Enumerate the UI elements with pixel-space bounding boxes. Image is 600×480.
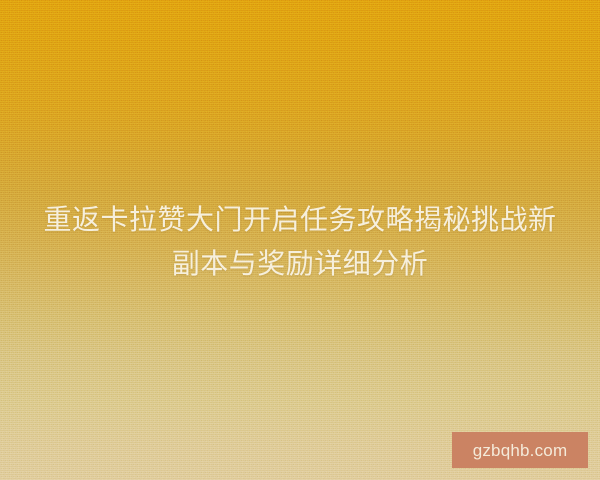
watermark-badge: gzbqhb.com (452, 432, 588, 468)
title-line-2: 副本与奖励详细分析 (14, 242, 586, 286)
watermark-text: gzbqhb.com (473, 442, 568, 459)
poster-canvas: 重返卡拉赞大门开启任务攻略揭秘挑战新 副本与奖励详细分析 gzbqhb.com (0, 0, 600, 480)
page-title: 重返卡拉赞大门开启任务攻略揭秘挑战新 副本与奖励详细分析 (0, 198, 600, 286)
title-line-1: 重返卡拉赞大门开启任务攻略揭秘挑战新 (14, 198, 586, 242)
